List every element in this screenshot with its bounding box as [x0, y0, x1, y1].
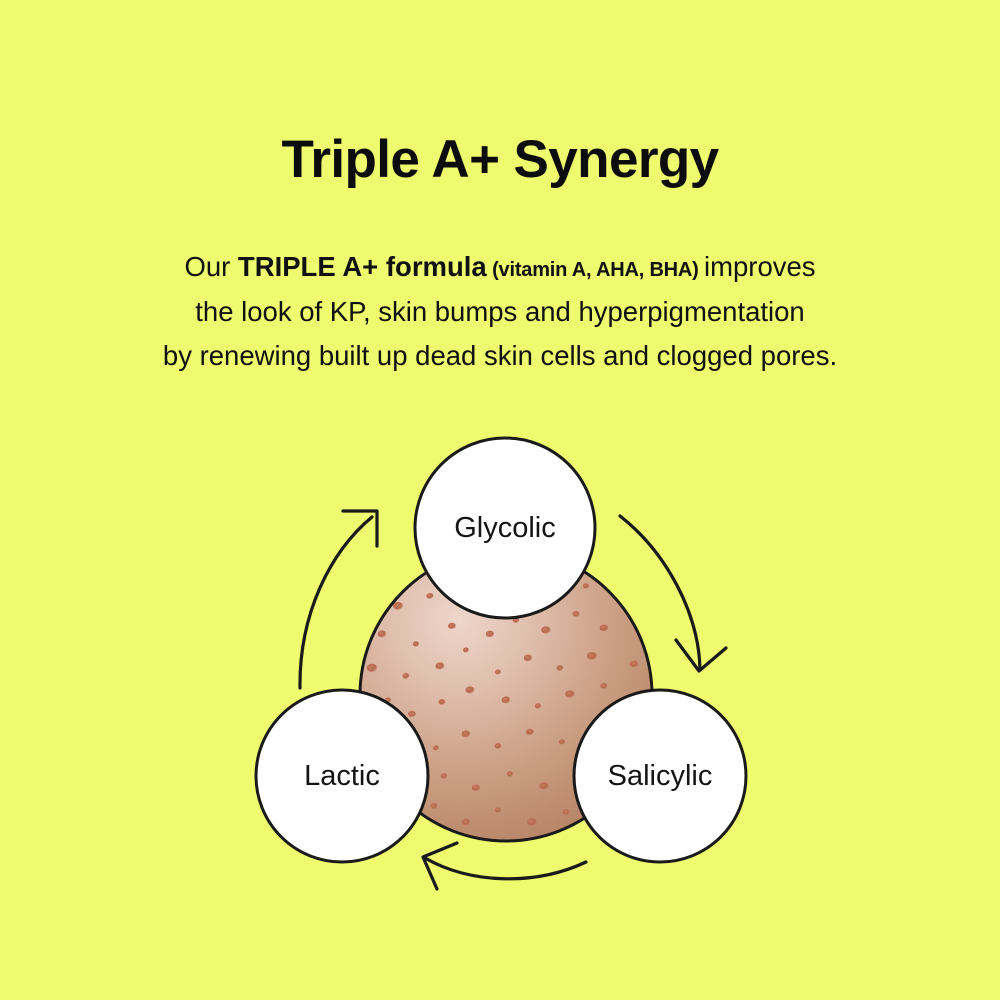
- node-salicylic-label: Salicylic: [608, 760, 713, 792]
- node-glycolic-label: Glycolic: [454, 512, 556, 544]
- node-salicylic[interactable]: Salicylic: [574, 690, 746, 862]
- node-lactic[interactable]: Lactic: [256, 690, 428, 862]
- promo-panel: Triple A+ Synergy Our TRIPLE A+ formula …: [0, 0, 1000, 1000]
- node-lactic-label: Lactic: [304, 760, 380, 792]
- node-glycolic[interactable]: Glycolic: [415, 438, 595, 618]
- triple-a-cycle-diagram: Glycolic Lactic Salicylic: [0, 0, 1000, 1000]
- arrow-salicylic-to-lactic: [423, 843, 586, 889]
